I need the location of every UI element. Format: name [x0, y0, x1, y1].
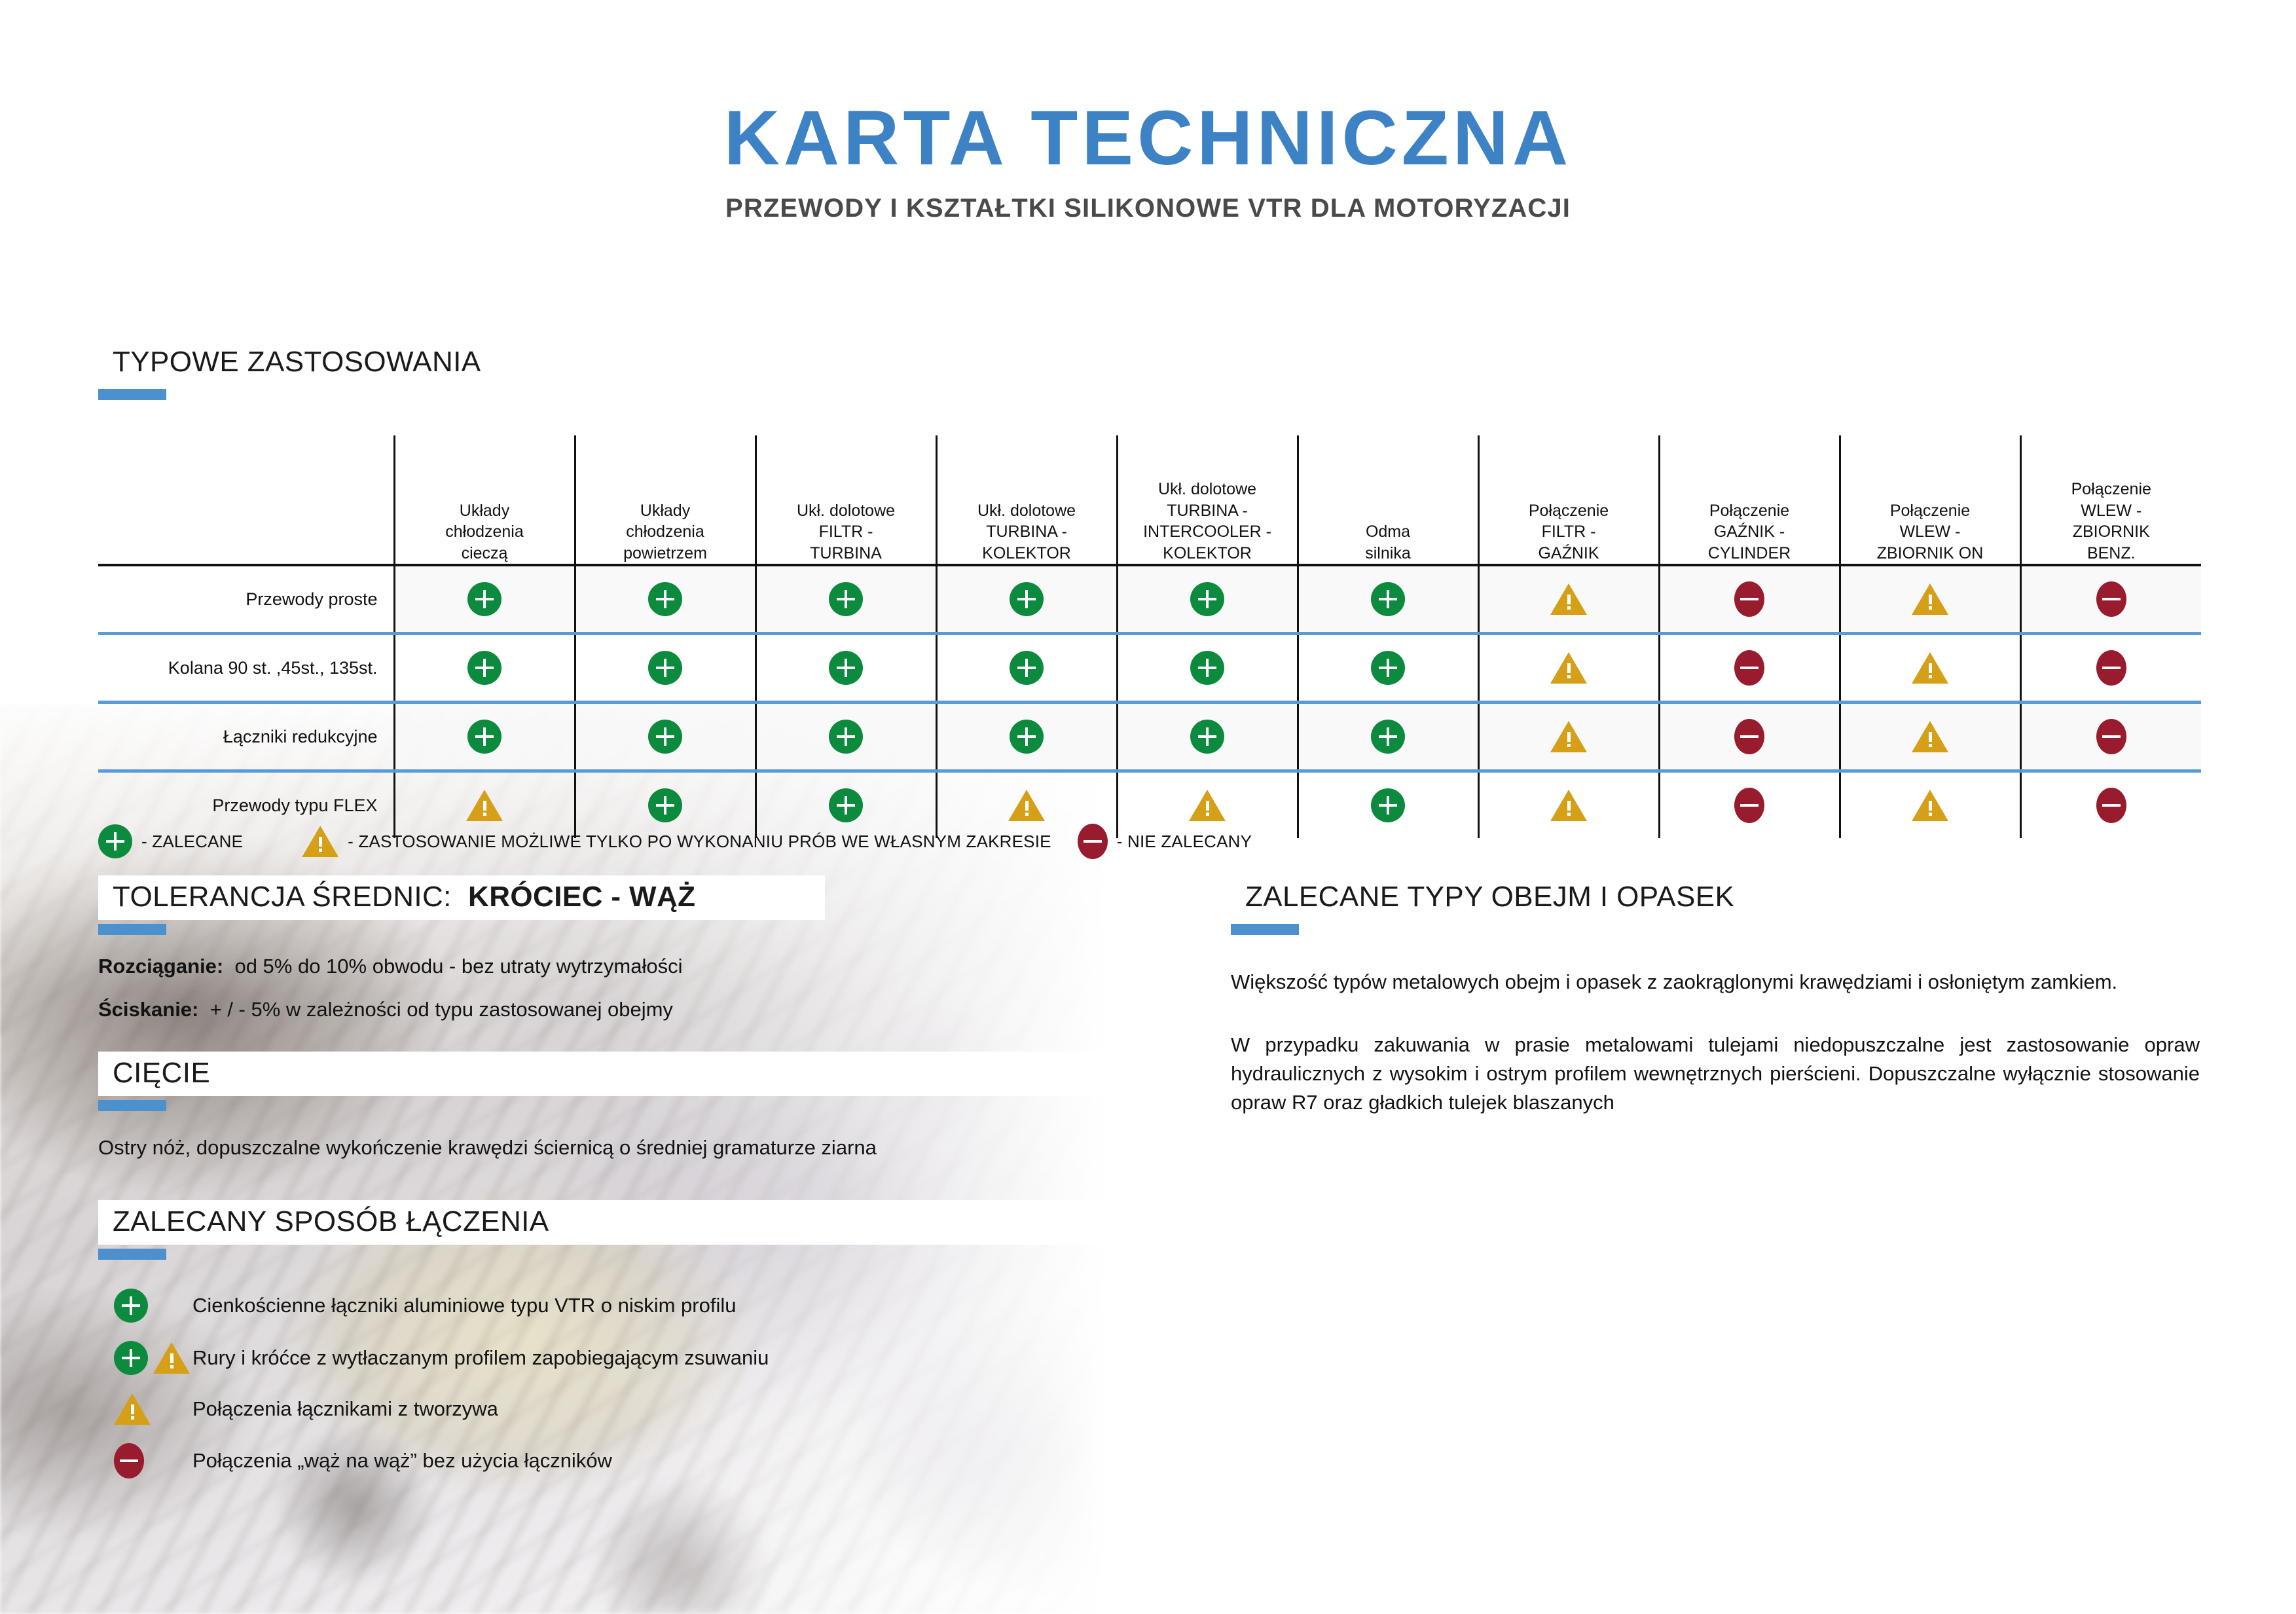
column-header-9: Połączenie WLEW - ZBIORNIK BENZ.	[2020, 435, 2201, 565]
list-item-label: Połączenia łącznikami z tworzywa	[192, 1396, 498, 1422]
table-row: Kolana 90 st. ,45st., 135st.	[98, 634, 2201, 703]
joining-method-list: Cienkościenne łączniki aluminiowe typu V…	[98, 1289, 1120, 1478]
tolerance-stretch-label: Rozciąganie:	[98, 955, 223, 978]
list-item-label: Cienkościenne łączniki aluminiowe typu V…	[192, 1293, 736, 1319]
warning-icon	[1912, 721, 1948, 752]
plus-icon	[648, 582, 682, 616]
column-header-3: Ukł. dolotowe TURBINA - KOLEKTOR	[936, 435, 1117, 565]
table-header-row: Układy chłodzenia cieczą Układy chłodzen…	[98, 435, 2201, 565]
legend-item-conditional: - ZASTOSOWANIE MOŻLIWE TYLKO PO WYKONANI…	[302, 826, 1051, 857]
plus-icon	[98, 824, 132, 858]
list-item-icons	[98, 1341, 192, 1375]
minus-icon	[1734, 788, 1764, 823]
warning-icon	[1008, 790, 1045, 821]
plus-icon	[467, 582, 501, 616]
cell-r2-c3	[936, 703, 1117, 771]
status-legend: - ZALECANE - ZASTOSOWANIE MOŻLIWE TYLKO …	[98, 824, 1252, 859]
warning-icon	[1189, 790, 1226, 821]
column-header-5: Odma silnika	[1298, 435, 1478, 565]
warning-icon	[1912, 790, 1948, 821]
minus-icon	[2096, 788, 2126, 823]
cell-r3-c5	[1298, 771, 1478, 839]
plus-icon	[467, 720, 501, 754]
cutting-heading-text: CIĘCIE	[98, 1052, 1120, 1096]
clamps-heading-text: ZALECANE TYPY OBEJM I OPASEK	[1231, 875, 2200, 920]
cell-r1-c7	[1659, 634, 1840, 703]
plus-icon	[1010, 651, 1044, 685]
warning-icon	[1912, 652, 1948, 684]
joining-heading-text: ZALECANY SPOSÓB ŁĄCZENIA	[98, 1200, 1120, 1245]
plus-icon	[1371, 788, 1405, 822]
right-column: ZALECANE TYPY OBEJM I OPASEK Większość t…	[1231, 875, 2200, 1117]
cell-r1-c2	[756, 634, 936, 703]
legend-item-recommended: - ZALECANE	[98, 824, 243, 858]
cell-r0-c4	[1117, 565, 1298, 634]
table-corner-cell	[98, 435, 394, 565]
column-header-1: Układy chłodzenia powietrzem	[575, 435, 756, 565]
cell-r1-c4	[1117, 634, 1298, 703]
cell-r2-c2	[756, 703, 936, 771]
warning-icon	[1550, 583, 1587, 615]
warning-icon	[1912, 583, 1948, 615]
list-item-icons	[98, 1289, 192, 1323]
cell-r2-c4	[1117, 703, 1298, 771]
plus-icon	[829, 720, 863, 754]
minus-icon	[1734, 650, 1764, 686]
row-label: Łączniki redukcyjne	[98, 703, 394, 771]
legend-item-not-recommended: - NIE ZALECANY	[1078, 824, 1252, 859]
applications-table: Układy chłodzenia cieczą Układy chłodzen…	[98, 435, 2201, 838]
plus-icon	[829, 582, 863, 616]
applications-table-body: Przewody prosteKolana 90 st. ,45st., 135…	[98, 565, 2201, 838]
list-item: Połączenia łącznikami z tworzywa	[98, 1393, 1120, 1425]
plus-icon	[648, 720, 682, 754]
minus-icon	[114, 1443, 144, 1478]
warning-icon	[153, 1342, 190, 1374]
joining-heading: ZALECANY SPOSÓB ŁĄCZENIA	[98, 1200, 1120, 1260]
cell-r1-c3	[936, 634, 1117, 703]
heading-accent-bar	[98, 1249, 166, 1260]
tolerance-stretch-value: od 5% do 10% obwodu - bez utraty wytrzym…	[234, 955, 682, 978]
cell-r0-c8	[1840, 565, 2020, 634]
cell-r2-c1	[575, 703, 756, 771]
table-row: Przewody proste	[98, 565, 2201, 634]
plus-icon	[648, 788, 682, 822]
clamps-paragraph-1: Większość typów metalowych obejm i opase…	[1231, 968, 2200, 997]
list-item-icons	[98, 1393, 192, 1425]
warning-icon	[466, 790, 503, 821]
heading-accent-bar	[98, 924, 166, 935]
tolerance-heading: TOLERANCJA ŚREDNIC: KRÓCIEC - WĄŻ	[98, 875, 825, 935]
legend-label-not-recommended: - NIE ZALECANY	[1117, 832, 1252, 852]
column-header-7: Połączenie GAŹNIK - CYLINDER	[1659, 435, 1840, 565]
tolerance-compress-value: + / - 5% w zależności od typu zastosowan…	[210, 998, 673, 1021]
cell-r2-c8	[1840, 703, 2020, 771]
cell-r0-c6	[1478, 565, 1659, 634]
plus-icon	[1010, 582, 1044, 616]
heading-accent-bar	[1231, 924, 1299, 935]
plus-icon	[1371, 582, 1405, 616]
cutting-heading: CIĘCIE	[98, 1052, 1120, 1111]
plus-icon	[1190, 720, 1224, 754]
legend-label-conditional: - ZASTOSOWANIE MOŻLIWE TYLKO PO WYKONANI…	[348, 832, 1051, 852]
cell-r1-c5	[1298, 634, 1478, 703]
applications-heading-text: TYPOWE ZASTOSOWANIA	[98, 340, 1120, 385]
cell-r0-c9	[2020, 565, 2201, 634]
tolerance-heading-emphasis: KRÓCIEC - WĄŻ	[468, 881, 695, 913]
cell-r3-c6	[1478, 771, 1659, 839]
minus-icon	[2096, 650, 2126, 686]
warning-icon	[302, 826, 338, 857]
legend-label-recommended: - ZALECANE	[141, 832, 243, 852]
cell-r1-c1	[575, 634, 756, 703]
warning-icon	[1550, 790, 1587, 821]
list-item: Połączenia „wąż na wąż” bez użycia łączn…	[98, 1443, 1120, 1478]
cell-r1-c6	[1478, 634, 1659, 703]
column-header-2: Ukł. dolotowe FILTR - TURBINA	[756, 435, 936, 565]
cell-r0-c5	[1298, 565, 1478, 634]
cell-r3-c8	[1840, 771, 2020, 839]
column-header-4: Ukł. dolotowe TURBINA - INTERCOOLER - KO…	[1117, 435, 1298, 565]
cell-r3-c9	[2020, 771, 2201, 839]
list-item-icons	[98, 1443, 192, 1478]
heading-accent-bar	[98, 389, 166, 400]
plus-icon	[829, 651, 863, 685]
column-header-0: Układy chłodzenia cieczą	[394, 435, 575, 565]
minus-icon	[1078, 824, 1108, 859]
page-subtitle: PRZEWODY I KSZTAŁTKI SILIKONOWE VTR DLA …	[0, 177, 2296, 223]
minus-icon	[1734, 581, 1764, 617]
tolerance-heading-text: TOLERANCJA ŚREDNIC:	[113, 881, 452, 913]
plus-icon	[1371, 720, 1405, 754]
list-item-label: Rury i króćce z wytłaczanym profilem zap…	[192, 1345, 769, 1371]
cell-r2-c9	[2020, 703, 2201, 771]
tolerance-compress-row: Ściskanie: + / - 5% w zależności od typu…	[98, 998, 1120, 1021]
cell-r3-c7	[1659, 771, 1840, 839]
plus-icon	[114, 1289, 148, 1323]
cell-r1-c8	[1840, 634, 2020, 703]
row-label: Przewody proste	[98, 565, 394, 634]
cell-r1-c0	[394, 634, 575, 703]
cutting-text: Ostry nóż, dopuszczalne wykończenie kraw…	[98, 1133, 1100, 1162]
clamps-heading: ZALECANE TYPY OBEJM I OPASEK	[1231, 875, 2200, 935]
plus-icon	[829, 788, 863, 822]
warning-icon	[1550, 721, 1587, 752]
clamps-paragraph-2: W przypadku zakuwania w prasie metalowam…	[1231, 1031, 2200, 1117]
tolerance-stretch-row: Rozciąganie: od 5% do 10% obwodu - bez u…	[98, 955, 1120, 978]
page-title: KARTA TECHNICZNA	[0, 0, 2296, 177]
warning-icon	[1550, 652, 1587, 684]
cell-r0-c1	[575, 565, 756, 634]
cell-r1-c9	[2020, 634, 2201, 703]
column-header-6: Połączenie FILTR - GAŹNIK	[1478, 435, 1659, 565]
applications-heading: TYPOWE ZASTOSOWANIA	[98, 340, 1120, 400]
cell-r0-c2	[756, 565, 936, 634]
heading-accent-bar	[98, 1100, 166, 1111]
minus-icon	[2096, 581, 2126, 617]
plus-icon	[1371, 651, 1405, 685]
cell-r0-c3	[936, 565, 1117, 634]
tolerance-compress-label: Ściskanie:	[98, 998, 198, 1021]
plus-icon	[114, 1341, 148, 1375]
left-column: TOLERANCJA ŚREDNIC: KRÓCIEC - WĄŻ Rozcią…	[98, 875, 1120, 1497]
cell-r2-c5	[1298, 703, 1478, 771]
plus-icon	[1190, 651, 1224, 685]
column-header-8: Połączenie WLEW - ZBIORNIK ON	[1840, 435, 2020, 565]
minus-icon	[2096, 719, 2126, 754]
plus-icon	[467, 651, 501, 685]
warning-icon	[114, 1393, 151, 1425]
list-item: Cienkościenne łączniki aluminiowe typu V…	[98, 1289, 1120, 1323]
row-label: Kolana 90 st. ,45st., 135st.	[98, 634, 394, 703]
applications-section: TYPOWE ZASTOSOWANIA Układy chłodzenia ci…	[98, 340, 2200, 838]
minus-icon	[1734, 719, 1764, 754]
cell-r2-c0	[394, 703, 575, 771]
plus-icon	[648, 651, 682, 685]
cell-r0-c0	[394, 565, 575, 634]
cell-r2-c6	[1478, 703, 1659, 771]
plus-icon	[1190, 582, 1224, 616]
list-item-label: Połączenia „wąż na wąż” bez użycia łączn…	[192, 1448, 612, 1474]
list-item: Rury i króćce z wytłaczanym profilem zap…	[98, 1341, 1120, 1375]
cell-r0-c7	[1659, 565, 1840, 634]
table-row: Łączniki redukcyjne	[98, 703, 2201, 771]
plus-icon	[1010, 720, 1044, 754]
cell-r2-c7	[1659, 703, 1840, 771]
